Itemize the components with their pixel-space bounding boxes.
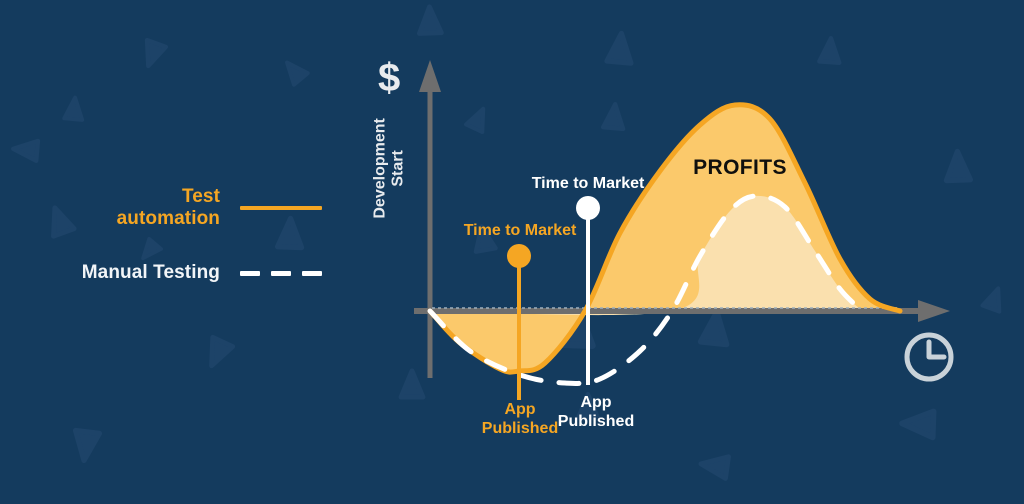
label-app-published-manual: App Published [528, 393, 664, 431]
infographic-canvas: Test automation Manual Testing $ Develop… [0, 0, 1024, 504]
label-profits: PROFITS [650, 156, 830, 180]
legend-label-manual-testing: Manual Testing [82, 262, 220, 284]
clock-icon [907, 335, 951, 379]
legend-swatch-dashed [240, 271, 322, 276]
legend-item-test-automation[interactable]: Test automation [52, 186, 322, 231]
x-axis-arrowhead [918, 300, 950, 322]
legend-label-test-automation: Test automation [117, 186, 220, 231]
legend-swatch-solid [240, 206, 322, 210]
marker-dot [507, 244, 531, 268]
y-axis-label: Development Start [372, 88, 409, 248]
y-axis-arrowhead [419, 60, 441, 92]
legend-item-manual-testing[interactable]: Manual Testing [52, 262, 322, 284]
marker-dot [576, 196, 600, 220]
label-time-to-market-automation: Time to Market [430, 222, 610, 240]
